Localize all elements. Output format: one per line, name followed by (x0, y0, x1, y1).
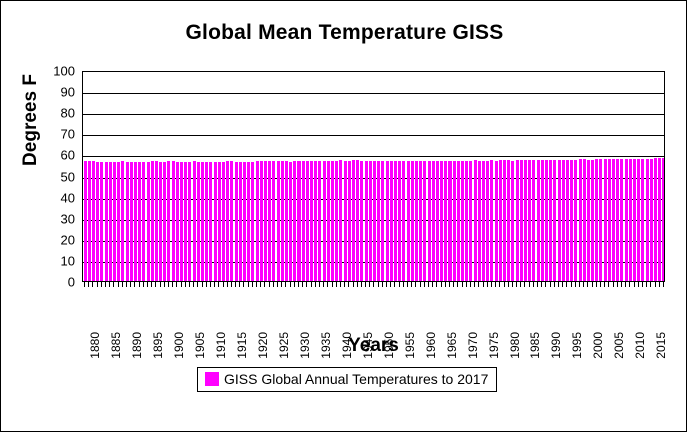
bar (516, 160, 519, 281)
x-tick (214, 282, 215, 287)
x-tick (415, 282, 416, 287)
x-tick (566, 282, 567, 287)
bar (218, 162, 221, 281)
x-tick (550, 282, 551, 287)
x-tick (533, 282, 534, 287)
bar (486, 161, 489, 281)
x-tick (357, 282, 358, 287)
bar (612, 159, 615, 281)
bar (268, 161, 271, 281)
bar (310, 161, 313, 281)
bar (532, 160, 535, 281)
bar (117, 162, 120, 281)
bar (167, 161, 170, 281)
y-axis-tick-labels: 0102030405060708090100 (31, 71, 75, 282)
x-tick (659, 282, 660, 287)
x-tick (537, 282, 538, 287)
bar (411, 161, 414, 281)
bar (654, 158, 657, 281)
bar (147, 162, 150, 281)
plot-area (82, 71, 665, 282)
x-tick (504, 282, 505, 287)
x-tick (348, 282, 349, 287)
x-tick (273, 282, 274, 287)
bar (84, 161, 87, 281)
x-tick (252, 282, 253, 287)
x-tick (160, 282, 161, 287)
x-tick (529, 282, 530, 287)
x-tick (650, 282, 651, 287)
x-tick (319, 282, 320, 287)
bar (595, 159, 598, 281)
x-tick (403, 282, 404, 287)
bar (553, 160, 556, 281)
x-tick (382, 282, 383, 287)
x-tick (181, 282, 182, 287)
x-tick (151, 282, 152, 287)
x-tick (231, 282, 232, 287)
x-tick (189, 282, 190, 287)
bar (373, 161, 376, 281)
legend-color-swatch (205, 372, 219, 386)
bar (419, 161, 422, 281)
chart-legend: GISS Global Annual Temperatures to 2017 (197, 367, 497, 392)
x-tick (554, 282, 555, 287)
x-tick (101, 282, 102, 287)
x-tick (470, 282, 471, 287)
x-tick (281, 282, 282, 287)
bar (109, 162, 112, 281)
bar (184, 162, 187, 281)
x-tick (524, 282, 525, 287)
x-tick (340, 282, 341, 287)
bar (562, 160, 565, 281)
bar (243, 162, 246, 281)
bar (423, 161, 426, 281)
x-tick (134, 282, 135, 287)
x-tick (386, 282, 387, 287)
bar (507, 160, 510, 281)
bar (520, 160, 523, 281)
bar (235, 162, 238, 281)
bar (348, 161, 351, 282)
x-tick (516, 282, 517, 287)
x-tick (420, 282, 421, 287)
x-tick (113, 282, 114, 287)
bar (180, 162, 183, 281)
bar (193, 161, 196, 281)
bar (432, 161, 435, 281)
bar (297, 161, 300, 281)
bar (490, 160, 493, 281)
x-tick (575, 282, 576, 287)
bar (646, 159, 649, 281)
x-tick (608, 282, 609, 287)
bar (172, 161, 175, 281)
x-tick (491, 282, 492, 287)
x-tick (617, 282, 618, 287)
bar (126, 162, 129, 281)
y-tick-label: 30 (31, 212, 75, 225)
x-tick (84, 282, 85, 287)
bar (100, 162, 103, 281)
bar (369, 161, 372, 281)
x-tick (613, 282, 614, 287)
bar (629, 159, 632, 281)
bar (633, 159, 636, 281)
bar (545, 160, 548, 281)
bar (474, 160, 477, 281)
bar (398, 161, 401, 281)
bar (461, 161, 464, 281)
bar (415, 161, 418, 281)
x-tick (592, 282, 593, 287)
bar (503, 160, 506, 281)
bar (440, 161, 443, 281)
bar (226, 161, 229, 281)
x-tick (441, 282, 442, 287)
bar (134, 162, 137, 281)
x-tick (478, 282, 479, 287)
bar (331, 161, 334, 281)
x-axis-tick-labels: 1880188518901895190019051910191519201925… (82, 288, 665, 334)
x-tick (344, 282, 345, 287)
bar (318, 161, 321, 281)
bar (604, 159, 607, 281)
bar (616, 159, 619, 281)
y-tick-label: 60 (31, 149, 75, 162)
bar (163, 162, 166, 282)
x-tick (88, 282, 89, 287)
bar (448, 161, 451, 281)
bar (558, 160, 561, 281)
bar (289, 162, 292, 281)
bar (641, 159, 644, 281)
x-tick (411, 282, 412, 287)
bar (583, 159, 586, 281)
x-tick (264, 282, 265, 287)
x-tick (327, 282, 328, 287)
x-tick (545, 282, 546, 287)
y-tick-label: 100 (31, 65, 75, 78)
x-tick (399, 282, 400, 287)
x-tick (147, 282, 148, 287)
bar (356, 160, 359, 281)
bar (142, 162, 145, 281)
bar (352, 160, 355, 281)
bar (453, 161, 456, 281)
x-tick (604, 282, 605, 287)
x-tick (306, 282, 307, 287)
x-tick (210, 282, 211, 287)
x-tick (378, 282, 379, 287)
x-tick (122, 282, 123, 287)
bar (105, 162, 108, 281)
bar (256, 161, 259, 281)
bar (138, 162, 141, 281)
bar (457, 161, 460, 281)
y-tick-label: 0 (31, 276, 75, 289)
x-tick (315, 282, 316, 287)
x-tick (164, 282, 165, 287)
x-tick (449, 282, 450, 287)
x-tick (583, 282, 584, 287)
x-tick (239, 282, 240, 287)
bar (209, 162, 212, 281)
bar (151, 161, 154, 281)
x-tick (655, 282, 656, 287)
bar (608, 159, 611, 281)
x-tick (428, 282, 429, 287)
bar (130, 162, 133, 281)
bar (390, 161, 393, 281)
y-tick-label: 10 (31, 254, 75, 267)
bar (444, 161, 447, 281)
x-tick (474, 282, 475, 287)
bar (650, 159, 653, 281)
x-tick (596, 282, 597, 287)
x-tick (445, 282, 446, 287)
bar (121, 161, 124, 281)
bar (394, 161, 397, 281)
bar (277, 161, 280, 281)
bar (482, 161, 485, 281)
x-tick (646, 282, 647, 287)
y-tick-label: 20 (31, 233, 75, 246)
x-tick (495, 282, 496, 287)
x-tick (541, 282, 542, 287)
x-tick (176, 282, 177, 287)
bar (360, 161, 363, 281)
x-tick (365, 282, 366, 287)
bar (188, 162, 191, 281)
bar (625, 159, 628, 281)
chart-title: Global Mean Temperature GISS (1, 21, 687, 45)
x-tick (462, 282, 463, 287)
bar (599, 159, 602, 281)
x-tick (483, 282, 484, 287)
x-tick (130, 282, 131, 287)
bar (377, 161, 380, 281)
bar (293, 161, 296, 281)
bar (159, 162, 162, 281)
x-tick (155, 282, 156, 287)
bar (88, 161, 91, 281)
x-tick (126, 282, 127, 287)
y-tick-label: 40 (31, 191, 75, 204)
bar (176, 162, 179, 281)
x-tick (361, 282, 362, 287)
x-tick (432, 282, 433, 287)
x-tick (453, 282, 454, 287)
bar (335, 161, 338, 281)
bar (407, 161, 410, 281)
x-axis-ticks (82, 282, 665, 287)
bar (574, 160, 577, 281)
x-tick (373, 282, 374, 287)
bar (247, 162, 250, 281)
x-tick (520, 282, 521, 287)
bar (566, 160, 569, 281)
x-tick (562, 282, 563, 287)
x-tick (579, 282, 580, 287)
bar (260, 161, 263, 281)
bar (230, 161, 233, 281)
bar (92, 161, 95, 281)
bar (264, 161, 267, 281)
bar (549, 160, 552, 281)
x-tick (139, 282, 140, 287)
x-tick (499, 282, 500, 287)
bar (302, 161, 305, 281)
x-tick (332, 282, 333, 287)
bar (201, 162, 204, 281)
x-tick (512, 282, 513, 287)
bar (214, 162, 217, 281)
bar (537, 160, 540, 281)
x-tick (487, 282, 488, 287)
bar (402, 161, 405, 281)
x-tick (97, 282, 98, 287)
x-tick (269, 282, 270, 287)
x-axis-title: Years (82, 335, 665, 357)
bar (511, 161, 514, 282)
bar (314, 161, 317, 281)
y-tick-label: 90 (31, 86, 75, 99)
x-tick (336, 282, 337, 287)
x-tick (436, 282, 437, 287)
bar (541, 160, 544, 281)
x-tick (193, 282, 194, 287)
bar (591, 160, 594, 282)
x-tick (185, 282, 186, 287)
x-tick (508, 282, 509, 287)
x-tick (243, 282, 244, 287)
bar (381, 161, 384, 281)
bar (239, 162, 242, 281)
x-tick (353, 282, 354, 287)
x-tick (248, 282, 249, 287)
x-tick (394, 282, 395, 287)
x-tick (202, 282, 203, 287)
y-tick-label: 80 (31, 107, 75, 120)
bar (344, 161, 347, 282)
chart-container: Global Mean Temperature GISS Degrees F 0… (0, 0, 687, 432)
bar (436, 161, 439, 281)
bar (428, 161, 431, 281)
x-tick (587, 282, 588, 287)
bar (155, 161, 158, 281)
x-tick (369, 282, 370, 287)
bar (272, 161, 275, 281)
bar (579, 159, 582, 281)
bar (205, 162, 208, 281)
x-tick (256, 282, 257, 287)
x-tick (634, 282, 635, 287)
x-tick (424, 282, 425, 287)
bar (251, 162, 254, 281)
bar (197, 162, 200, 281)
x-tick (642, 282, 643, 287)
x-tick (298, 282, 299, 287)
x-tick (323, 282, 324, 287)
bar (495, 161, 498, 282)
x-tick (92, 282, 93, 287)
x-tick (302, 282, 303, 287)
bar (339, 160, 342, 281)
x-tick (172, 282, 173, 287)
bar (528, 160, 531, 281)
x-tick (558, 282, 559, 287)
bar (499, 160, 502, 281)
x-tick (206, 282, 207, 287)
x-tick (223, 282, 224, 287)
bar (285, 161, 288, 281)
x-tick (260, 282, 261, 287)
bar (620, 159, 623, 281)
x-tick (571, 282, 572, 287)
bar (658, 158, 661, 281)
bar (96, 162, 99, 281)
x-tick (663, 282, 664, 287)
bar (386, 161, 389, 281)
y-tick-label: 50 (31, 170, 75, 183)
x-tick (638, 282, 639, 287)
bar (570, 160, 573, 281)
x-tick (629, 282, 630, 287)
x-tick (118, 282, 119, 287)
x-tick (105, 282, 106, 287)
bar (306, 161, 309, 281)
x-tick (109, 282, 110, 287)
bar-series (83, 72, 664, 281)
x-tick (621, 282, 622, 287)
x-tick (390, 282, 391, 287)
bar (524, 160, 527, 281)
x-tick (466, 282, 467, 287)
x-tick (290, 282, 291, 287)
bar (323, 161, 326, 281)
x-tick (277, 282, 278, 287)
x-tick (285, 282, 286, 287)
x-tick (143, 282, 144, 287)
bar (637, 159, 640, 281)
bar (113, 162, 116, 281)
x-tick (600, 282, 601, 287)
x-tick (168, 282, 169, 287)
x-tick (227, 282, 228, 287)
x-tick (294, 282, 295, 287)
bar (469, 161, 472, 281)
bar (587, 160, 590, 281)
bar (327, 161, 330, 281)
bar (222, 162, 225, 281)
legend-item-label: GISS Global Annual Temperatures to 2017 (224, 371, 488, 387)
bar (281, 161, 284, 281)
bar (365, 161, 368, 281)
x-tick (407, 282, 408, 287)
bar (478, 161, 481, 281)
x-tick (625, 282, 626, 287)
x-tick (197, 282, 198, 287)
x-tick (457, 282, 458, 287)
bar (465, 161, 468, 281)
x-tick (311, 282, 312, 287)
x-tick (235, 282, 236, 287)
y-tick-label: 70 (31, 128, 75, 141)
bar (662, 158, 665, 281)
x-tick (218, 282, 219, 287)
